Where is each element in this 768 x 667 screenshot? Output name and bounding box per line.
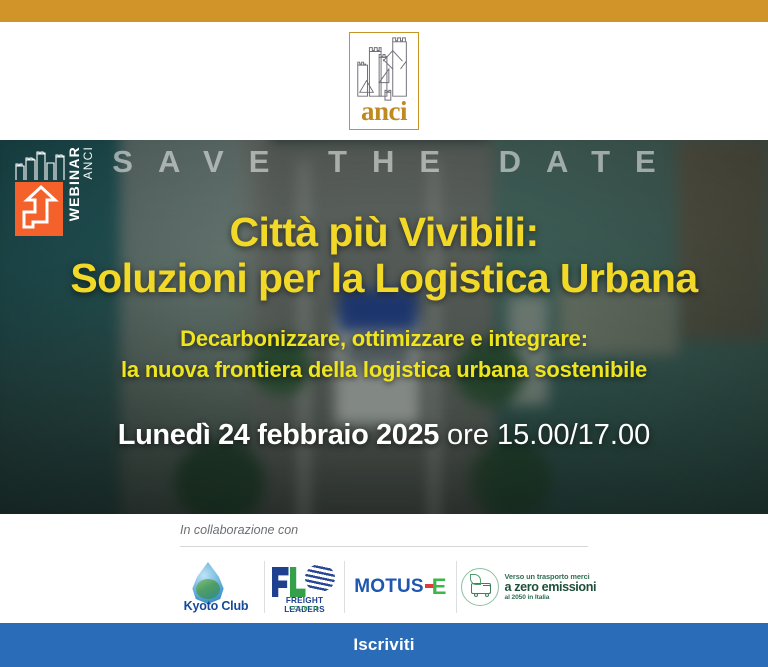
globe-stripes-icon [305, 564, 335, 592]
zero-emissioni-line-2: a zero emissioni [505, 581, 597, 595]
event-subtitle: Decarbonizzare, ottimizzare e integrare:… [121, 323, 647, 385]
partner-logo-kyoto-club[interactable]: Kyoto Club [168, 561, 264, 613]
event-subtitle-line-2: la nuova frontiera della logistica urban… [121, 354, 647, 385]
event-title: Città più Vivibili: Soluzioni per la Log… [70, 210, 697, 302]
register-button-label: Iscriviti [353, 635, 414, 655]
partner-logo-motus-e[interactable]: MOTUS E [344, 561, 456, 613]
event-subtitle-line-1: Decarbonizzare, ottimizzare e integrare: [121, 323, 647, 354]
event-title-line-1: Città più Vivibili: [70, 210, 697, 256]
letter-f-icon [272, 567, 289, 597]
motus-letter-e: E [432, 576, 447, 598]
event-date: Lunedì 24 febbraio 2025 [118, 419, 439, 451]
anci-logo: anci [349, 32, 419, 130]
motus-wordmark: MOTUS [354, 576, 424, 598]
motus-e-mark: E [426, 576, 447, 598]
partners-label: In collaborazione con [180, 523, 298, 537]
register-button[interactable]: Iscriviti [0, 623, 768, 667]
anci-towers-icon [350, 35, 418, 103]
partners-divider [180, 546, 588, 547]
letter-l-icon [290, 567, 306, 597]
partner-logo-freight-leaders-council[interactable]: FREIGHT LEADERS COUNCIL [264, 561, 344, 613]
globe-icon [196, 579, 220, 599]
event-save-the-date-page: anci [0, 0, 768, 667]
anci-wordmark: anci [350, 98, 418, 129]
kyoto-club-wordmark: Kyoto Club [173, 599, 259, 613]
green-truck-leaf-icon [461, 568, 499, 606]
partner-logos-row: Kyoto Club FREIGHT LEADERS COUNCIL MOTUS [168, 559, 602, 615]
hero-banner: ANCI WEBINAR SAVE THE DATE Città più Viv… [0, 140, 768, 514]
zero-emissioni-line-3: al 2050 in Italia [505, 594, 597, 601]
brand-header: anci [0, 22, 768, 140]
partner-logo-zero-emissioni[interactable]: Verso un trasporto merci a zero emission… [456, 561, 602, 613]
partners-section: In collaborazione con Kyoto Club FREIGHT… [0, 514, 768, 623]
event-datetime: Lunedì 24 febbraio 2025 ore 15.00/17.00 [118, 421, 650, 450]
hero-content: Città più Vivibili: Soluzioni per la Log… [0, 140, 768, 514]
event-time: ore 15.00/17.00 [447, 419, 650, 451]
council-wordmark: COUNCIL [276, 606, 334, 612]
top-accent-bar [0, 0, 768, 22]
event-title-line-2: Soluzioni per la Logistica Urbana [70, 256, 697, 302]
